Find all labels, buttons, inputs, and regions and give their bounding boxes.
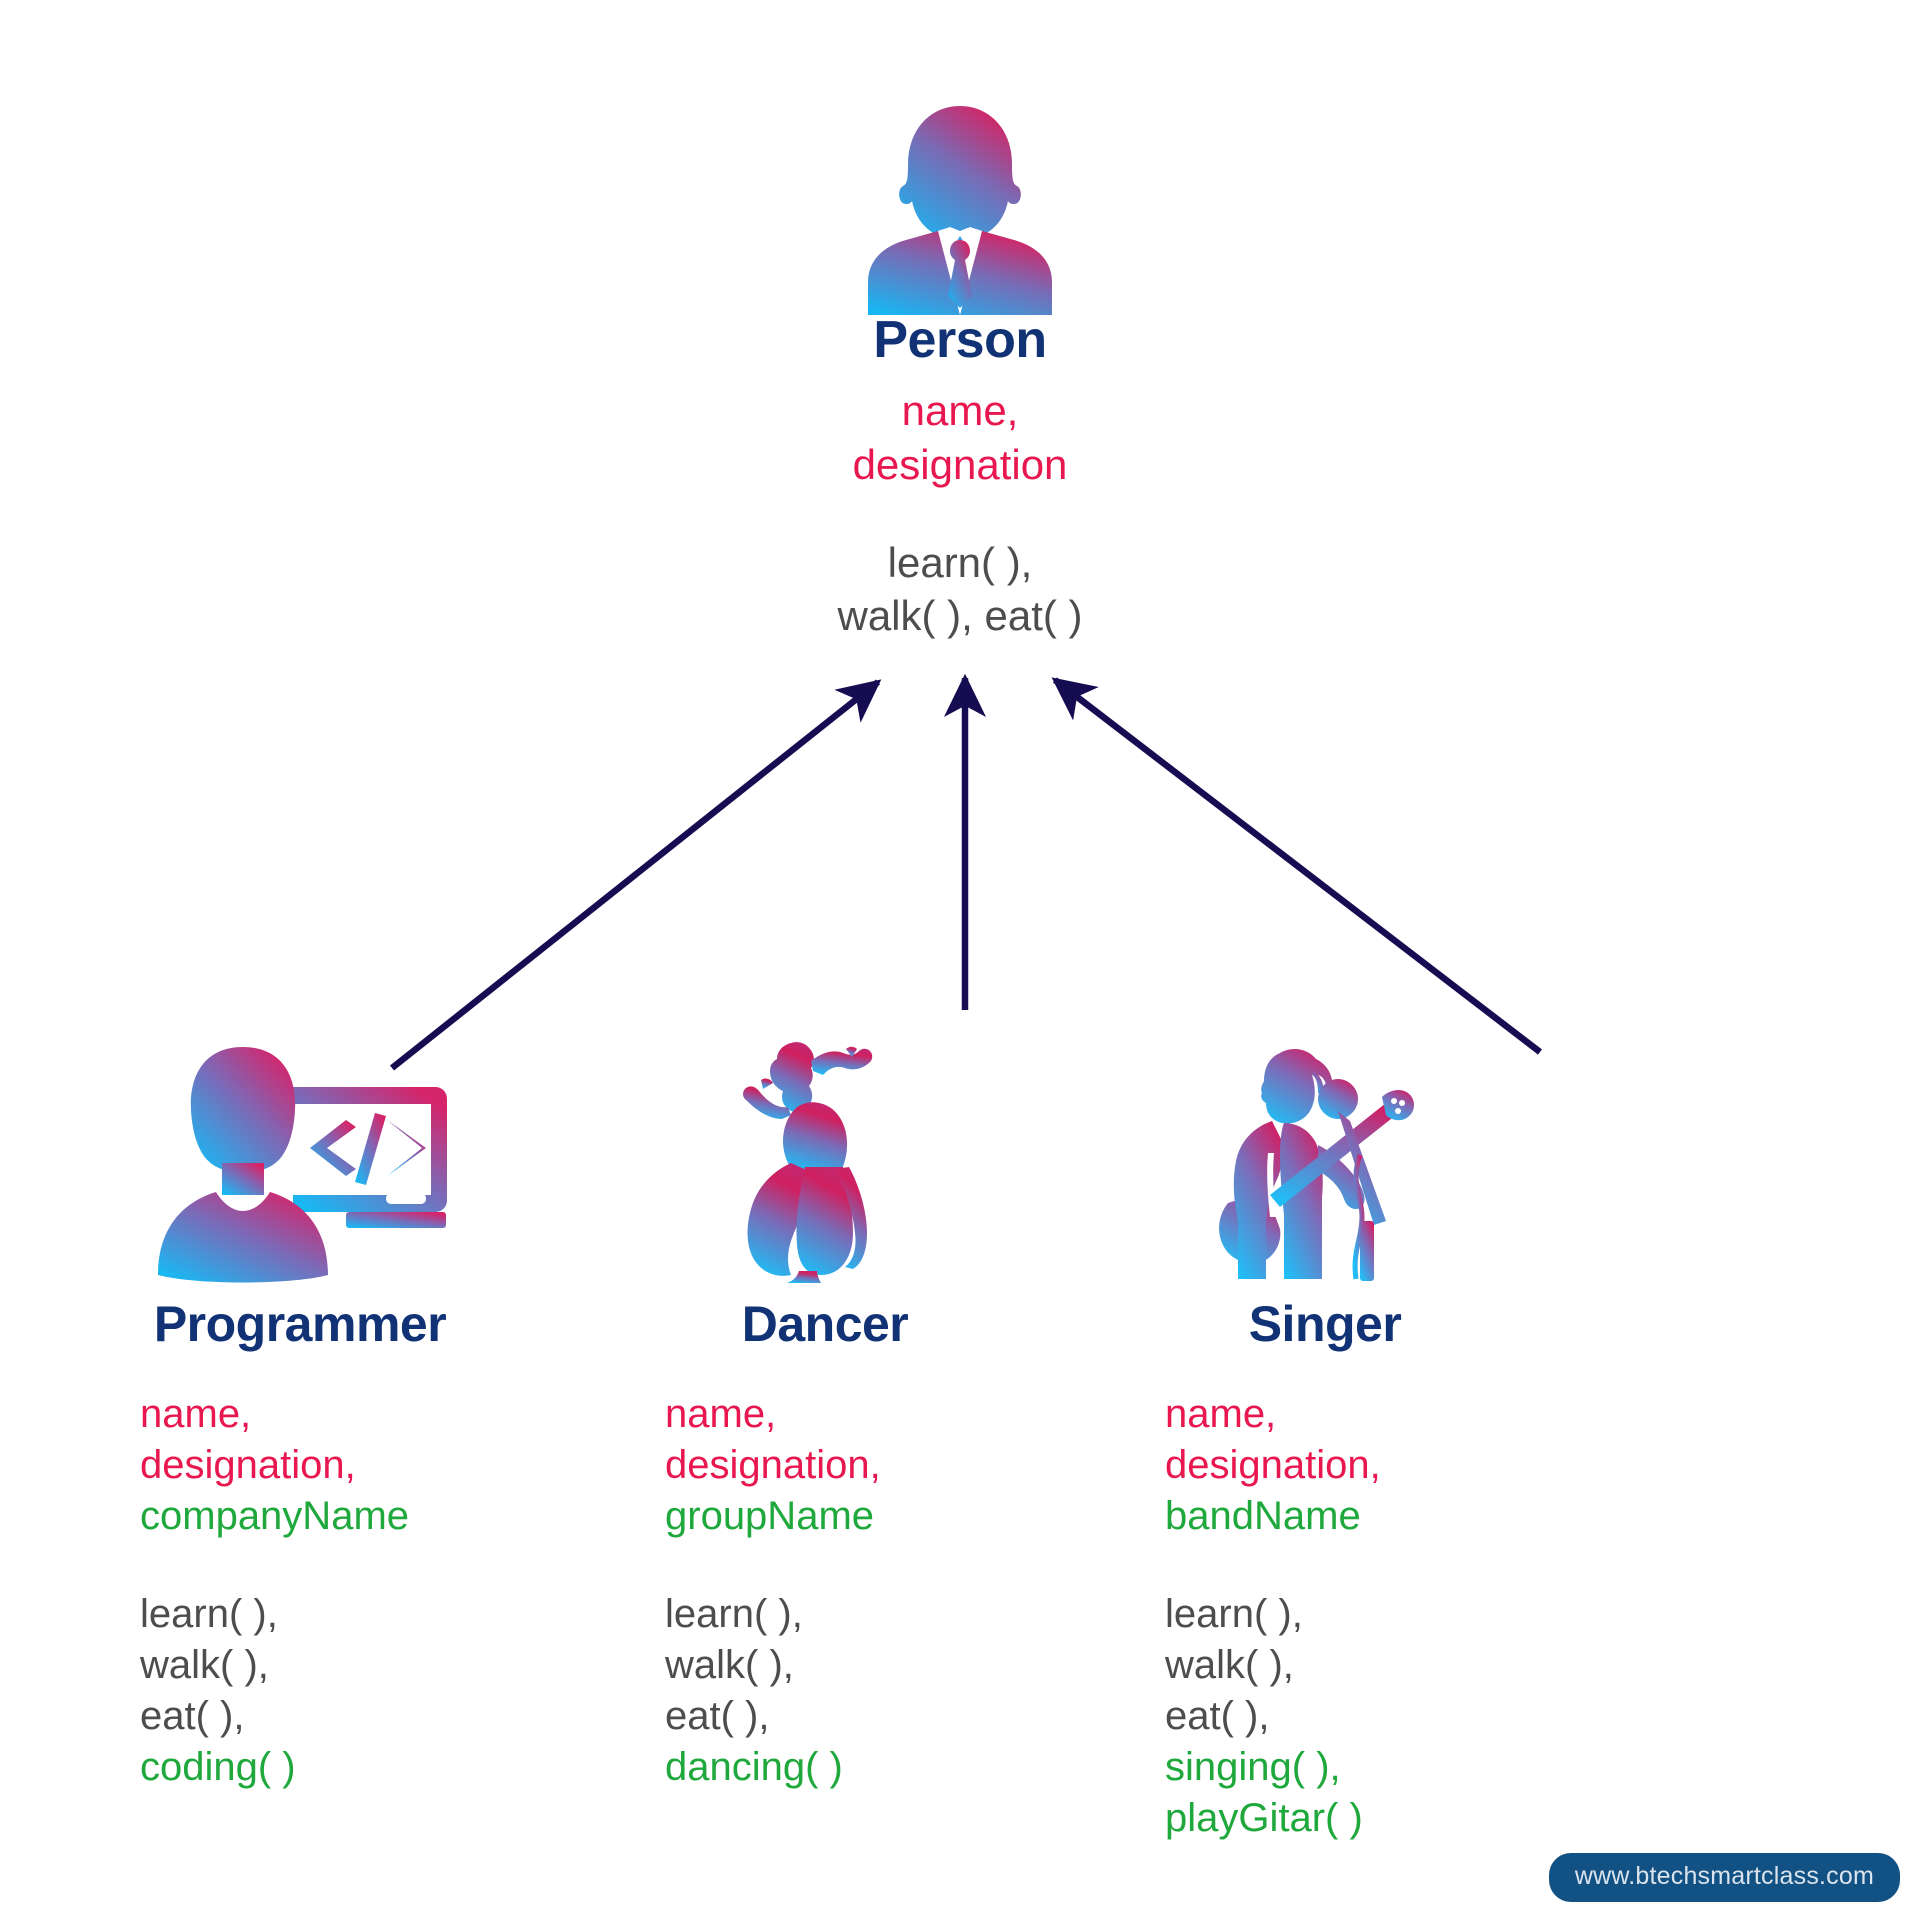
field-line: groupName bbox=[665, 1491, 1105, 1542]
method-line: walk( ), bbox=[1165, 1640, 1605, 1691]
class-node-singer: Singer name, designation, bandName learn… bbox=[1045, 1035, 1605, 1845]
icon-wrap-dancer bbox=[545, 1035, 1105, 1285]
fields-dancer: name, designation, groupName bbox=[545, 1389, 1105, 1543]
method-line: coding( ) bbox=[140, 1742, 580, 1793]
method-line: learn( ), bbox=[665, 1589, 1105, 1640]
method-line: eat( ), bbox=[665, 1691, 1105, 1742]
field-line: name, bbox=[1165, 1389, 1605, 1440]
icon-wrap-programmer bbox=[20, 1035, 580, 1285]
method-line: eat( ), bbox=[140, 1691, 580, 1742]
methods-singer: learn( ), walk( ), eat( ), singing( ), p… bbox=[1045, 1589, 1605, 1845]
class-title-programmer: Programmer bbox=[20, 1299, 580, 1349]
method-line: playGitar( ) bbox=[1165, 1793, 1605, 1844]
field-line: name, bbox=[140, 1389, 580, 1440]
watermark-badge[interactable]: www.btechsmartclass.com bbox=[1549, 1853, 1900, 1902]
class-title-singer: Singer bbox=[1045, 1299, 1605, 1349]
field-line: bandName bbox=[1165, 1491, 1605, 1542]
diagram-canvas: Person name, designation learn( ), walk(… bbox=[0, 0, 1920, 1920]
method-line: walk( ), bbox=[665, 1640, 1105, 1691]
field-line: name, bbox=[665, 1389, 1105, 1440]
class-node-person: Person name, designation learn( ), walk(… bbox=[0, 100, 1920, 643]
fields-programmer: name, designation, companyName bbox=[20, 1389, 580, 1543]
field-line: name, bbox=[0, 384, 1920, 438]
fields-singer: name, designation, bandName bbox=[1045, 1389, 1605, 1543]
programmer-avatar-icon bbox=[150, 1035, 450, 1285]
method-line: singing( ), bbox=[1165, 1742, 1605, 1793]
businessman-avatar-icon bbox=[860, 100, 1060, 315]
method-line: learn( ), bbox=[140, 1589, 580, 1640]
method-line: walk( ), bbox=[140, 1640, 580, 1691]
class-node-programmer: Programmer name, designation, companyNam… bbox=[20, 1035, 580, 1793]
field-line: companyName bbox=[140, 1491, 580, 1542]
arrow-singer-to-person bbox=[1055, 680, 1540, 1052]
watermark-text: www.btechsmartclass.com bbox=[1575, 1862, 1874, 1890]
methods-dancer: learn( ), walk( ), eat( ), dancing( ) bbox=[545, 1589, 1105, 1794]
field-line: designation bbox=[0, 438, 1920, 492]
class-title-dancer: Dancer bbox=[545, 1299, 1105, 1349]
methods-person: learn( ), walk( ), eat( ) bbox=[0, 536, 1920, 644]
class-node-dancer: Dancer name, designation, groupName lear… bbox=[545, 1035, 1105, 1793]
field-line: designation, bbox=[1165, 1440, 1605, 1491]
method-line: learn( ), bbox=[1165, 1589, 1605, 1640]
method-line: eat( ), bbox=[1165, 1691, 1605, 1742]
arrow-programmer-to-person bbox=[392, 682, 878, 1068]
field-line: designation, bbox=[140, 1440, 580, 1491]
dancer-silhouette-icon bbox=[725, 1035, 925, 1285]
singer-guitar-silhouette-icon bbox=[1210, 1035, 1440, 1285]
methods-programmer: learn( ), walk( ), eat( ), coding( ) bbox=[20, 1589, 580, 1794]
method-line: learn( ), bbox=[0, 536, 1920, 590]
method-line: walk( ), eat( ) bbox=[0, 589, 1920, 643]
class-title-person: Person bbox=[0, 314, 1920, 366]
fields-person: name, designation bbox=[0, 384, 1920, 492]
method-line: dancing( ) bbox=[665, 1742, 1105, 1793]
icon-wrap-singer bbox=[1045, 1035, 1605, 1285]
field-line: designation, bbox=[665, 1440, 1105, 1491]
